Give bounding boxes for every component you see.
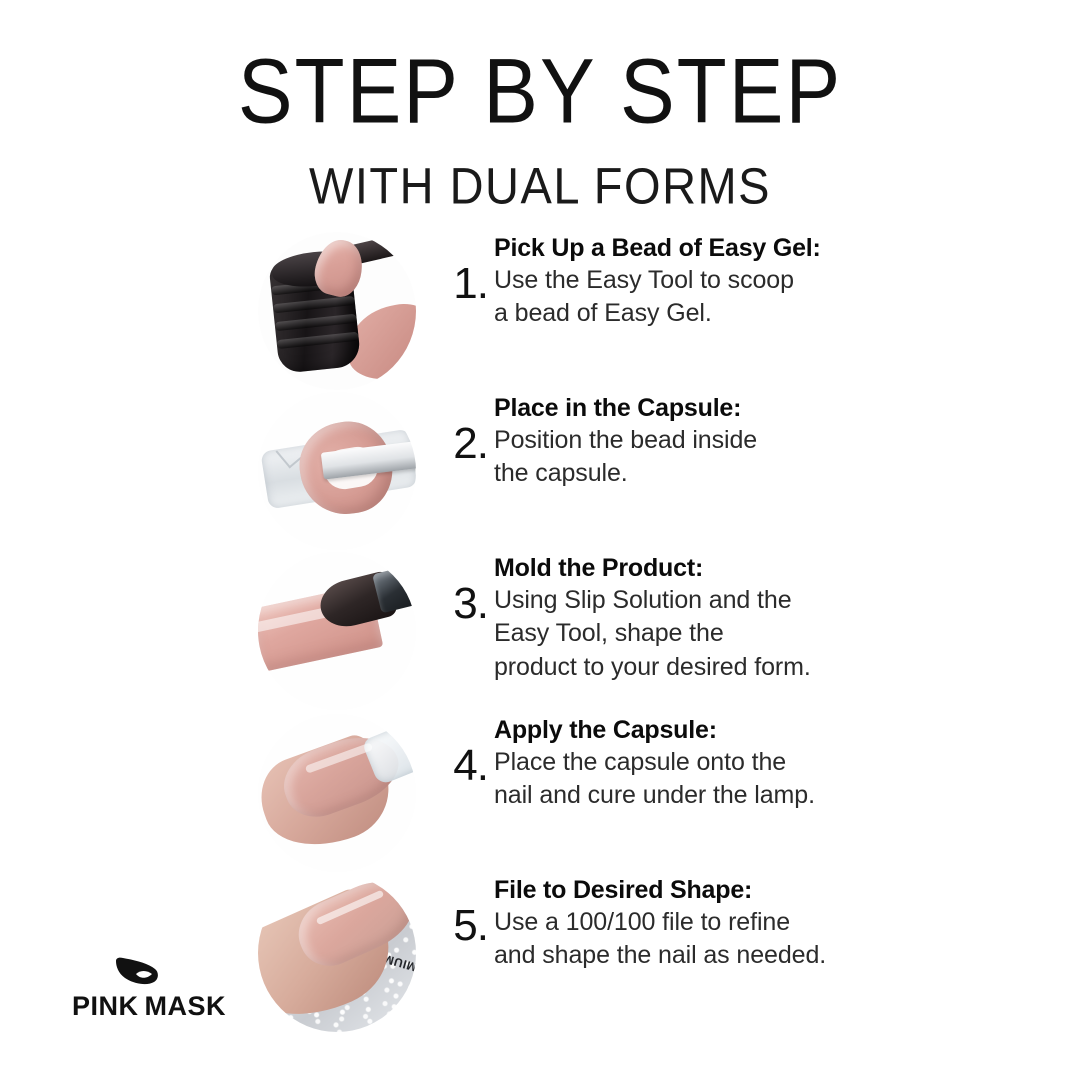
cap-ridge [275,314,357,332]
steps-list: 1. Pick Up a Bead of Easy Gel: Use the E… [0,232,1080,1034]
cap-ridge [276,332,358,350]
step-body-line: product to your desired form. [494,651,974,684]
step-heading: Apply the Capsule: [494,714,974,746]
step-item: 2. Place in the Capsule: Position the be… [0,392,1080,552]
step-number: 5. [428,904,488,948]
photo-art-capsule [258,392,416,550]
step-body-line: nail and cure under the lamp. [494,779,974,812]
step-body-line: a bead of Easy Gel. [494,297,974,330]
step-number: 2. [428,422,488,466]
step-text-block: File to Desired Shape: Use a 100/100 fil… [494,874,974,973]
step-photo-1 [258,232,416,390]
step-body-line: and shape the nail as needed. [494,939,974,972]
step-photo-2 [258,392,416,550]
photo-art-gel-tube [258,232,416,390]
step-body-line: Using Slip Solution and the [494,584,974,617]
photo-art-apply [258,714,416,872]
infographic-page: STEP BY STEP WITH DUAL FORMS [0,0,1080,1080]
cap-ridge [273,296,355,314]
step-photo-3 [258,552,416,710]
page-title: STEP BY STEP [0,44,1080,140]
step-body-line: Place the capsule onto the [494,746,974,779]
photo-art-mold [258,552,416,710]
step-text-block: Place in the Capsule: Position the bead … [494,392,974,491]
step-body-line: Position the bead inside [494,424,974,457]
step-item: 1. Pick Up a Bead of Easy Gel: Use the E… [0,232,1080,392]
photo-art-file: 100/100 PREMIUM ZEBRA [258,874,416,1032]
step-text-block: Apply the Capsule: Place the capsule ont… [494,714,974,813]
step-heading: Pick Up a Bead of Easy Gel: [494,232,974,264]
step-item: 3. Mold the Product: Using Slip Solution… [0,552,1080,714]
leaf-eye-mask-icon [114,957,160,987]
logo-word-mask: MASK [145,991,227,1021]
step-heading: Place in the Capsule: [494,392,974,424]
logo-wordmark: PINKMASK [72,991,252,1022]
step-number: 1. [428,262,488,306]
header: STEP BY STEP WITH DUAL FORMS [0,44,1080,211]
step-text-block: Mold the Product: Using Slip Solution an… [494,552,974,684]
brand-logo: PINKMASK [72,957,252,1022]
step-heading: Mold the Product: [494,552,974,584]
page-subtitle: WITH DUAL FORMS [0,156,1080,215]
step-number: 3. [428,582,488,626]
step-body-line: the capsule. [494,457,974,490]
step-text-block: Pick Up a Bead of Easy Gel: Use the Easy… [494,232,974,331]
step-photo-5: 100/100 PREMIUM ZEBRA [258,874,416,1032]
step-body-line: Easy Tool, shape the [494,617,974,650]
step-body-line: Use a 100/100 file to refine [494,906,974,939]
step-body-line: Use the Easy Tool to scoop [494,264,974,297]
step-item: 4. Apply the Capsule: Place the capsule … [0,714,1080,874]
step-photo-4 [258,714,416,872]
logo-word-pink: PINK [72,991,139,1021]
step-number: 4. [428,744,488,788]
step-heading: File to Desired Shape: [494,874,974,906]
